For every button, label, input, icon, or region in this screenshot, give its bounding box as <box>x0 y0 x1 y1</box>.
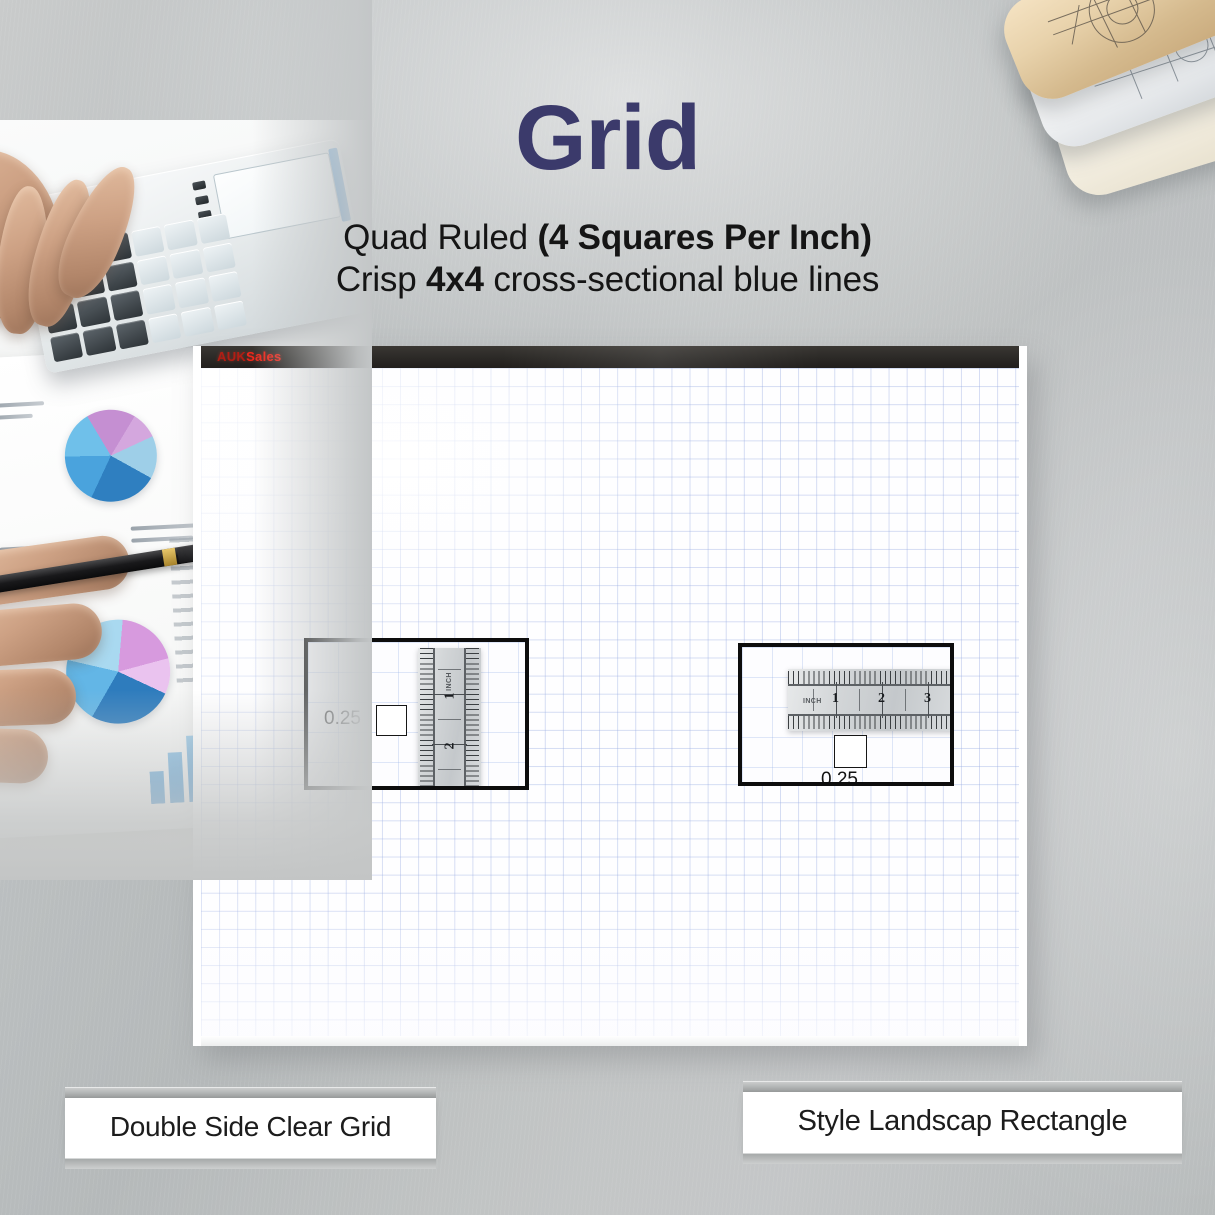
product-listing-image: Grid Quad Ruled (4 Squares Per Inch) Cri… <box>0 0 1215 1215</box>
page-title: Grid <box>0 92 1215 184</box>
ruler-vertical-number-1: 1 <box>443 693 459 700</box>
ruler-horizontal: INCH 1 2 3 <box>788 669 954 731</box>
ruler-vertical-ticks-left <box>420 648 433 790</box>
grid-square-sample-left <box>376 705 407 736</box>
ruler-horizontal-number-1: 1 <box>832 691 839 707</box>
headline-block: Grid Quad Ruled (4 Squares Per Inch) Cri… <box>0 92 1215 300</box>
subtitle-1-bold: (4 Squares Per Inch) <box>537 218 871 257</box>
brand-logo-part-1: AUK <box>217 349 246 364</box>
ruler-vertical: INCH 1 2 <box>418 648 481 790</box>
ruler-vertical-ticks-right <box>466 648 479 790</box>
binding-strip-sheen <box>501 346 821 368</box>
feature-box-right: Style Landscap Rectangle <box>743 1092 1182 1153</box>
notepad-bottom-edge <box>201 1036 1019 1046</box>
ruler-horizontal-number-2: 2 <box>878 691 885 707</box>
feature-bar-bottom-right <box>743 1153 1182 1164</box>
feature-bar-bottom-left <box>65 1158 436 1169</box>
grid-square-sample-right <box>834 735 867 768</box>
subtitle-line-1: Quad Ruled (4 Squares Per Inch) <box>0 218 1215 258</box>
ruler-vertical-unit-label: INCH <box>446 672 453 691</box>
feature-text-right: Style Landscap Rectangle <box>798 1105 1128 1137</box>
photo-fade-bottom <box>0 690 372 880</box>
subtitle-line-2: Crisp 4x4 cross-sectional blue lines <box>0 260 1215 300</box>
feature-text-left: Double Side Clear Grid <box>110 1111 391 1142</box>
subtitle-2-plain-a: Crisp <box>336 260 426 299</box>
inset-panel-horizontal-measurement: INCH 1 2 3 0.25 <box>738 643 954 786</box>
ruler-horizontal-unit-label: INCH <box>803 698 822 705</box>
ruler-vertical-number-2: 2 <box>443 743 459 750</box>
feature-bar-top-left <box>65 1087 436 1098</box>
feature-bar-top-right <box>743 1081 1182 1092</box>
subtitle-2-bold: 4x4 <box>426 260 484 299</box>
ruler-horizontal-number-3: 3 <box>924 691 931 707</box>
feature-label-double-side-clear-grid: Double Side Clear Grid <box>65 1087 436 1169</box>
photo-pie-chart-upper <box>63 407 160 504</box>
subtitle-2-plain-b: cross-sectional blue lines <box>484 260 879 299</box>
feature-box-left: Double Side Clear Grid <box>65 1098 436 1158</box>
feature-label-style-landscape-rectangle: Style Landscap Rectangle <box>743 1081 1182 1164</box>
subtitle-1-plain: Quad Ruled <box>343 218 537 257</box>
measurement-label-right: 0.25 <box>821 769 858 786</box>
